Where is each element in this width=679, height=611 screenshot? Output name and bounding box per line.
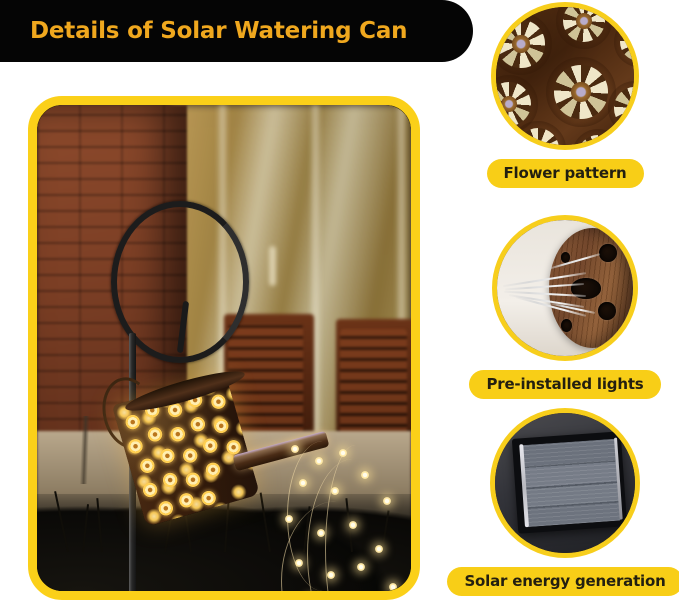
- main-photo-scene: [37, 105, 411, 591]
- solar-panel-cells: [521, 439, 620, 527]
- flower-carving-icon: [546, 57, 616, 127]
- page-title: Details of Solar Watering Can: [30, 18, 407, 44]
- detail-flower-pattern: Flower pattern: [452, 2, 678, 188]
- led-bulb: [285, 515, 293, 523]
- header-banner: Details of Solar Watering Can: [0, 0, 473, 62]
- led-bulb: [331, 487, 339, 495]
- detail-label-solar-energy-generation: Solar energy generation: [447, 567, 679, 596]
- detail-photo-flower-pattern: [491, 2, 639, 150]
- led-bulb: [317, 529, 325, 537]
- solar-panel-frame: [511, 432, 627, 535]
- led-bulb: [295, 559, 303, 567]
- detail-solar-energy-generation: Solar energy generation: [452, 408, 678, 596]
- detail-label-flower-pattern: Flower pattern: [487, 159, 644, 188]
- cap-hole: [599, 244, 616, 262]
- main-product-photo: [28, 96, 420, 600]
- led-bulb: [339, 449, 347, 457]
- led-bulb: [357, 563, 365, 571]
- led-bulb: [383, 497, 391, 505]
- led-bulb: [375, 545, 383, 553]
- led-bulb: [361, 471, 369, 479]
- bottom-cap-disc: [549, 228, 636, 348]
- cap-hole: [561, 319, 572, 332]
- led-bulb: [315, 457, 323, 465]
- led-bulb: [327, 571, 335, 579]
- led-bulb: [389, 583, 397, 591]
- detail-label-pre-installed-lights: Pre-installed lights: [469, 370, 660, 399]
- led-bulb: [349, 521, 357, 529]
- door-handle: [269, 246, 276, 286]
- led-bulb: [299, 479, 307, 487]
- fairy-light-stream: [277, 441, 411, 591]
- detail-photo-pre-installed-lights: [492, 215, 638, 361]
- detail-pre-installed-lights: Pre-installed lights: [452, 215, 678, 399]
- led-bulb: [291, 445, 299, 453]
- flower-carving-icon: [491, 13, 552, 75]
- cap-hole: [598, 302, 615, 320]
- detail-photo-solar-panel: [490, 408, 640, 558]
